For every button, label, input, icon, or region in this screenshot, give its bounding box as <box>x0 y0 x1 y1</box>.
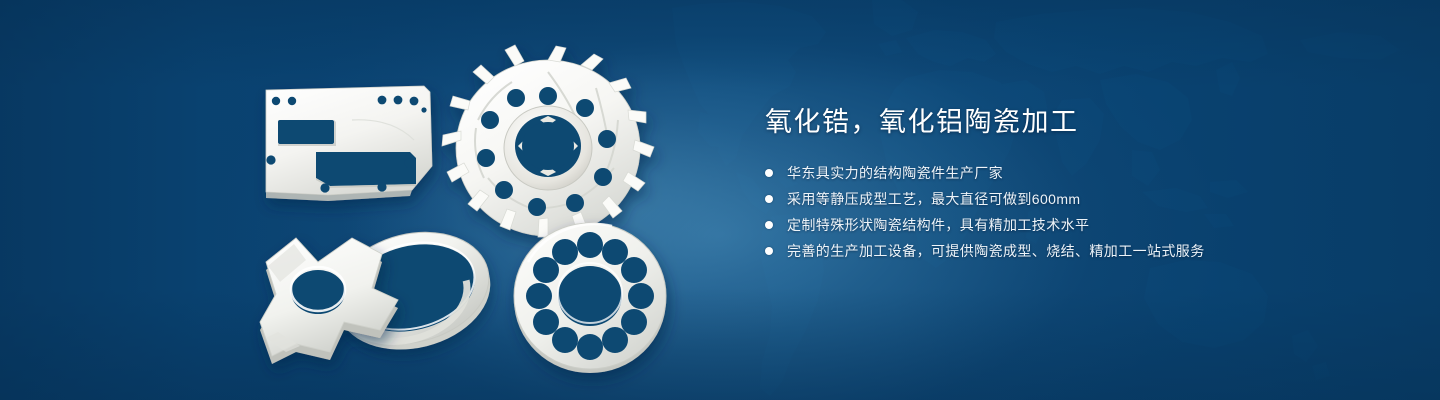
list-item: 定制特殊形状陶瓷结构件，具有精加工技术水平 <box>765 214 1385 236</box>
ceramic-perforated-disc-part <box>514 223 666 373</box>
bullet-dot-icon <box>765 169 773 177</box>
ceramic-products-image <box>0 0 760 400</box>
list-item-label: 华东具实力的结构陶瓷件生产厂家 <box>787 162 1003 184</box>
list-item-label: 完善的生产加工设备，可提供陶瓷成型、烧结、精加工一站式服务 <box>787 240 1205 262</box>
ceramic-impeller-part <box>442 45 654 237</box>
page-title: 氧化锆，氧化铝陶瓷加工 <box>765 106 1385 140</box>
list-item: 完善的生产加工设备，可提供陶瓷成型、烧结、精加工一站式服务 <box>765 240 1385 262</box>
list-item-label: 定制特殊形状陶瓷结构件，具有精加工技术水平 <box>787 214 1089 236</box>
bullet-dot-icon <box>765 221 773 229</box>
list-item-label: 采用等静压成型工艺，最大直径可做到600mm <box>787 188 1080 210</box>
bullet-dot-icon <box>765 247 773 255</box>
bullet-dot-icon <box>765 195 773 203</box>
list-item: 采用等静压成型工艺，最大直径可做到600mm <box>765 188 1385 210</box>
feature-list: 华东具实力的结构陶瓷件生产厂家 采用等静压成型工艺，最大直径可做到600mm 定… <box>765 162 1385 262</box>
list-item: 华东具实力的结构陶瓷件生产厂家 <box>765 162 1385 184</box>
banner-text-column: 氧化锆，氧化铝陶瓷加工 华东具实力的结构陶瓷件生产厂家 采用等静压成型工艺，最大… <box>765 106 1385 266</box>
promo-banner: 氧化锆，氧化铝陶瓷加工 华东具实力的结构陶瓷件生产厂家 采用等静压成型工艺，最大… <box>0 0 1440 400</box>
ceramic-plate-part <box>266 86 432 201</box>
